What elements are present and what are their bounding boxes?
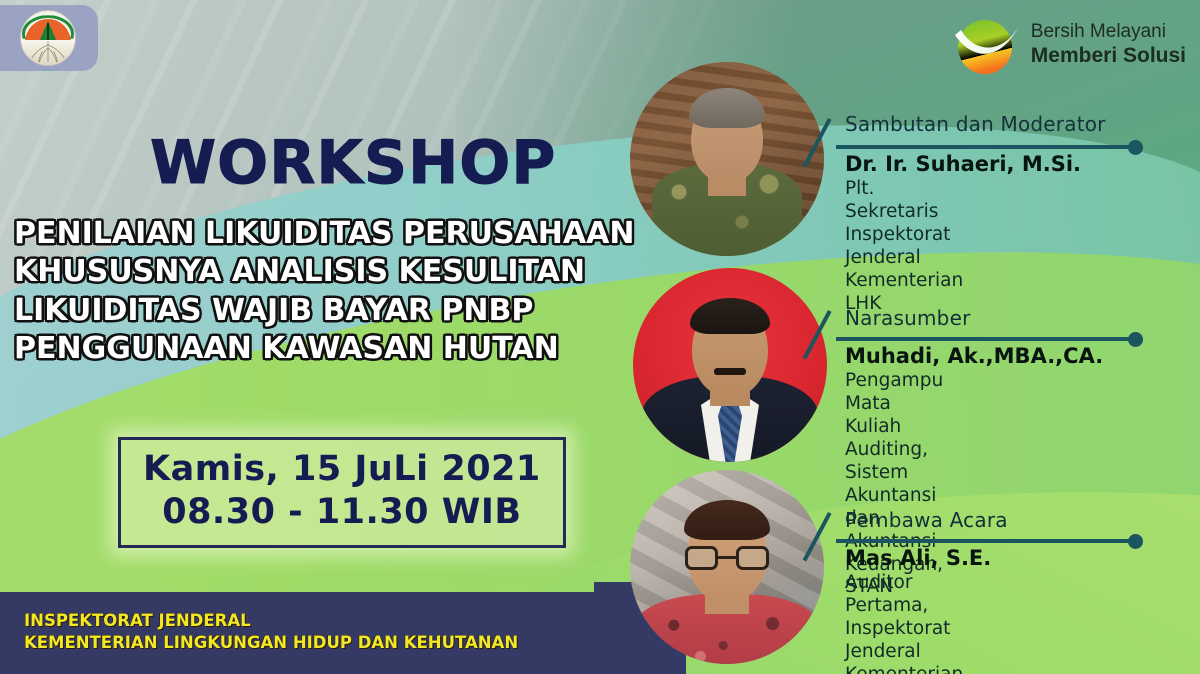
speaker-name-3: Mas Ali, S.E. xyxy=(845,546,991,570)
klhk-logo-badge xyxy=(0,5,98,71)
bersih-melayani-logo: Bersih Melayani Memberi Solusi xyxy=(951,14,1186,76)
title-line-4: PENGGUNAAN KAWASAN HUTAN xyxy=(14,330,634,368)
connector-line xyxy=(836,145,1136,149)
speaker-role-1: Sambutan dan Moderator xyxy=(845,112,1106,136)
schedule-box: Kamis, 15 JuLi 2021 08.30 - 11.30 WIB xyxy=(118,437,566,548)
speaker-desc-2-line-1: Pengampu Mata Kuliah Auditing, xyxy=(845,370,943,462)
connector-line xyxy=(836,539,1136,543)
schedule-time: 08.30 - 11.30 WIB xyxy=(143,491,541,534)
portrait-suhaeri xyxy=(630,62,824,256)
speaker-role-2: Narasumber xyxy=(845,306,971,330)
photo-hair xyxy=(690,298,770,334)
tagline-line-2: Memberi Solusi xyxy=(1031,44,1186,69)
speaker-name-2: Muhadi, Ak.,MBA.,CA. xyxy=(845,344,1103,368)
speaker-name-1: Dr. Ir. Suhaeri, M.Si. xyxy=(845,152,1081,176)
roots-icon xyxy=(26,41,69,64)
title-line-1: PENILAIAN LIKUIDITAS PERUSAHAAN xyxy=(14,215,634,253)
title-line-3: LIKUIDITAS WAJIB BAYAR PNBP xyxy=(14,292,634,330)
swoosh-leaf-icon xyxy=(951,14,1019,76)
eyebrow-workshop: WORKSHOP xyxy=(150,128,556,198)
title-line-2: KHUSUSNYA ANALISIS KESULITAN xyxy=(14,253,634,291)
portrait-mas-ali xyxy=(630,470,824,664)
glasses-lens-right xyxy=(736,546,769,570)
glasses-bridge xyxy=(718,556,736,559)
footer-line-2: KEMENTERIAN LINGKUNGAN HIDUP DAN KEHUTAN… xyxy=(24,632,518,654)
speaker-desc-3-line-2: Jenderal Kementerian LHK. xyxy=(845,641,963,674)
footer-band: INSPEKTORAT JENDERAL KEMENTERIAN LINGKUN… xyxy=(0,592,640,674)
footer-text: INSPEKTORAT JENDERAL KEMENTERIAN LINGKUN… xyxy=(24,610,518,654)
photo-glasses xyxy=(685,546,769,570)
speaker-role-3: Pembawa Acara xyxy=(845,508,1008,532)
connector-line xyxy=(836,337,1136,341)
klhk-logo-icon xyxy=(20,10,76,66)
photo-mustache xyxy=(714,368,746,375)
connector-dot xyxy=(1128,140,1143,155)
glasses-lens-left xyxy=(685,546,718,570)
connector-dot xyxy=(1128,332,1143,347)
workshop-flyer: Bersih Melayani Memberi Solusi WORKSHOP … xyxy=(0,0,1200,674)
footer-line-1: INSPEKTORAT JENDERAL xyxy=(24,610,518,632)
schedule-date: Kamis, 15 JuLi 2021 xyxy=(143,448,541,491)
bersih-melayani-text: Bersih Melayani Memberi Solusi xyxy=(1031,21,1186,68)
tagline-line-1: Bersih Melayani xyxy=(1031,21,1186,43)
connector-dot xyxy=(1128,534,1143,549)
speaker-desc-1: Plt. Sekretaris Inspektorat Jenderal Kem… xyxy=(845,178,963,316)
speaker-desc-3: Auditor Pertama, Inspektorat Jenderal Ke… xyxy=(845,572,963,674)
portrait-muhadi xyxy=(633,268,827,462)
headline-title: PENILAIAN LIKUIDITAS PERUSAHAAN KHUSUSNY… xyxy=(14,215,634,369)
speaker-desc-3-line-1: Auditor Pertama, Inspektorat xyxy=(845,572,963,641)
speaker-desc-1-line-1: Plt. Sekretaris Inspektorat Jenderal xyxy=(845,178,963,270)
